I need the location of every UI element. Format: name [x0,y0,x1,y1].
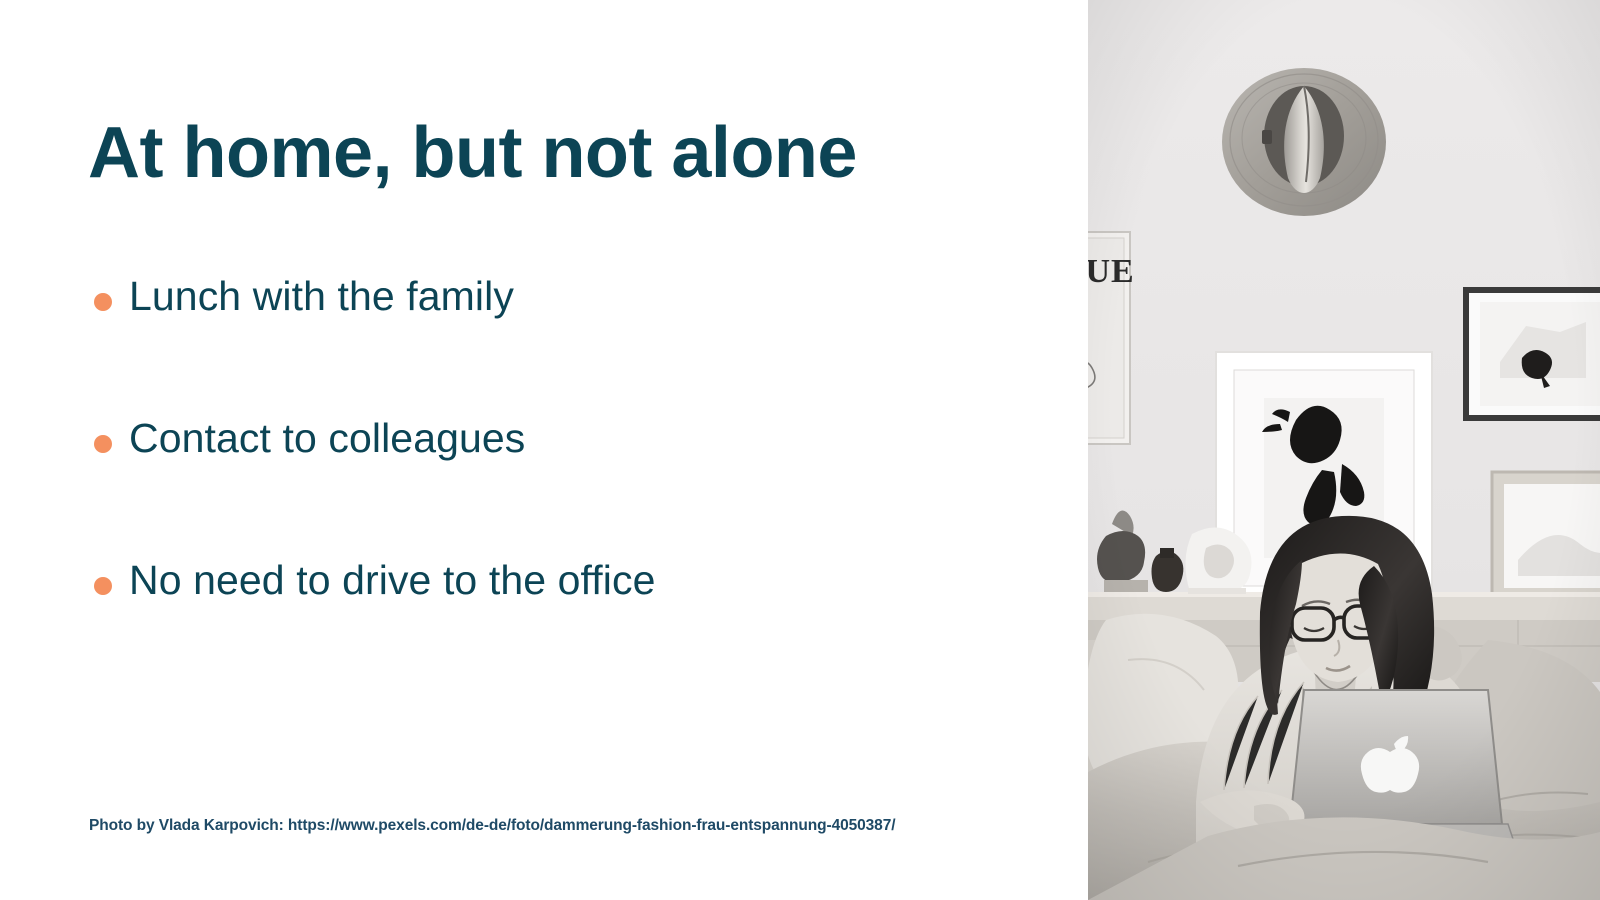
bullet-dot-icon [94,293,112,311]
slide-photo: GUE [1088,0,1600,900]
list-item: Lunch with the family [88,272,1028,414]
bedroom-laptop-photo-illustration: GUE [1088,0,1600,900]
slide-content-column: At home, but not alone Lunch with the fa… [0,0,1088,900]
bullet-dot-icon [94,577,112,595]
presentation-slide: At home, but not alone Lunch with the fa… [0,0,1600,900]
list-item-label: No need to drive to the office [129,556,1028,604]
bullet-list: Lunch with the family Contact to colleag… [88,272,1028,698]
list-item-label: Contact to colleagues [129,414,1028,462]
photo-credit-text: Photo by Vlada Karpovich: https://www.pe… [89,817,895,835]
list-item: Contact to colleagues [88,414,1028,556]
list-item-label: Lunch with the family [129,272,1028,320]
bullet-dot-icon [94,435,112,453]
page-title: At home, but not alone [88,116,1048,192]
list-item: No need to drive to the office [88,556,1028,698]
